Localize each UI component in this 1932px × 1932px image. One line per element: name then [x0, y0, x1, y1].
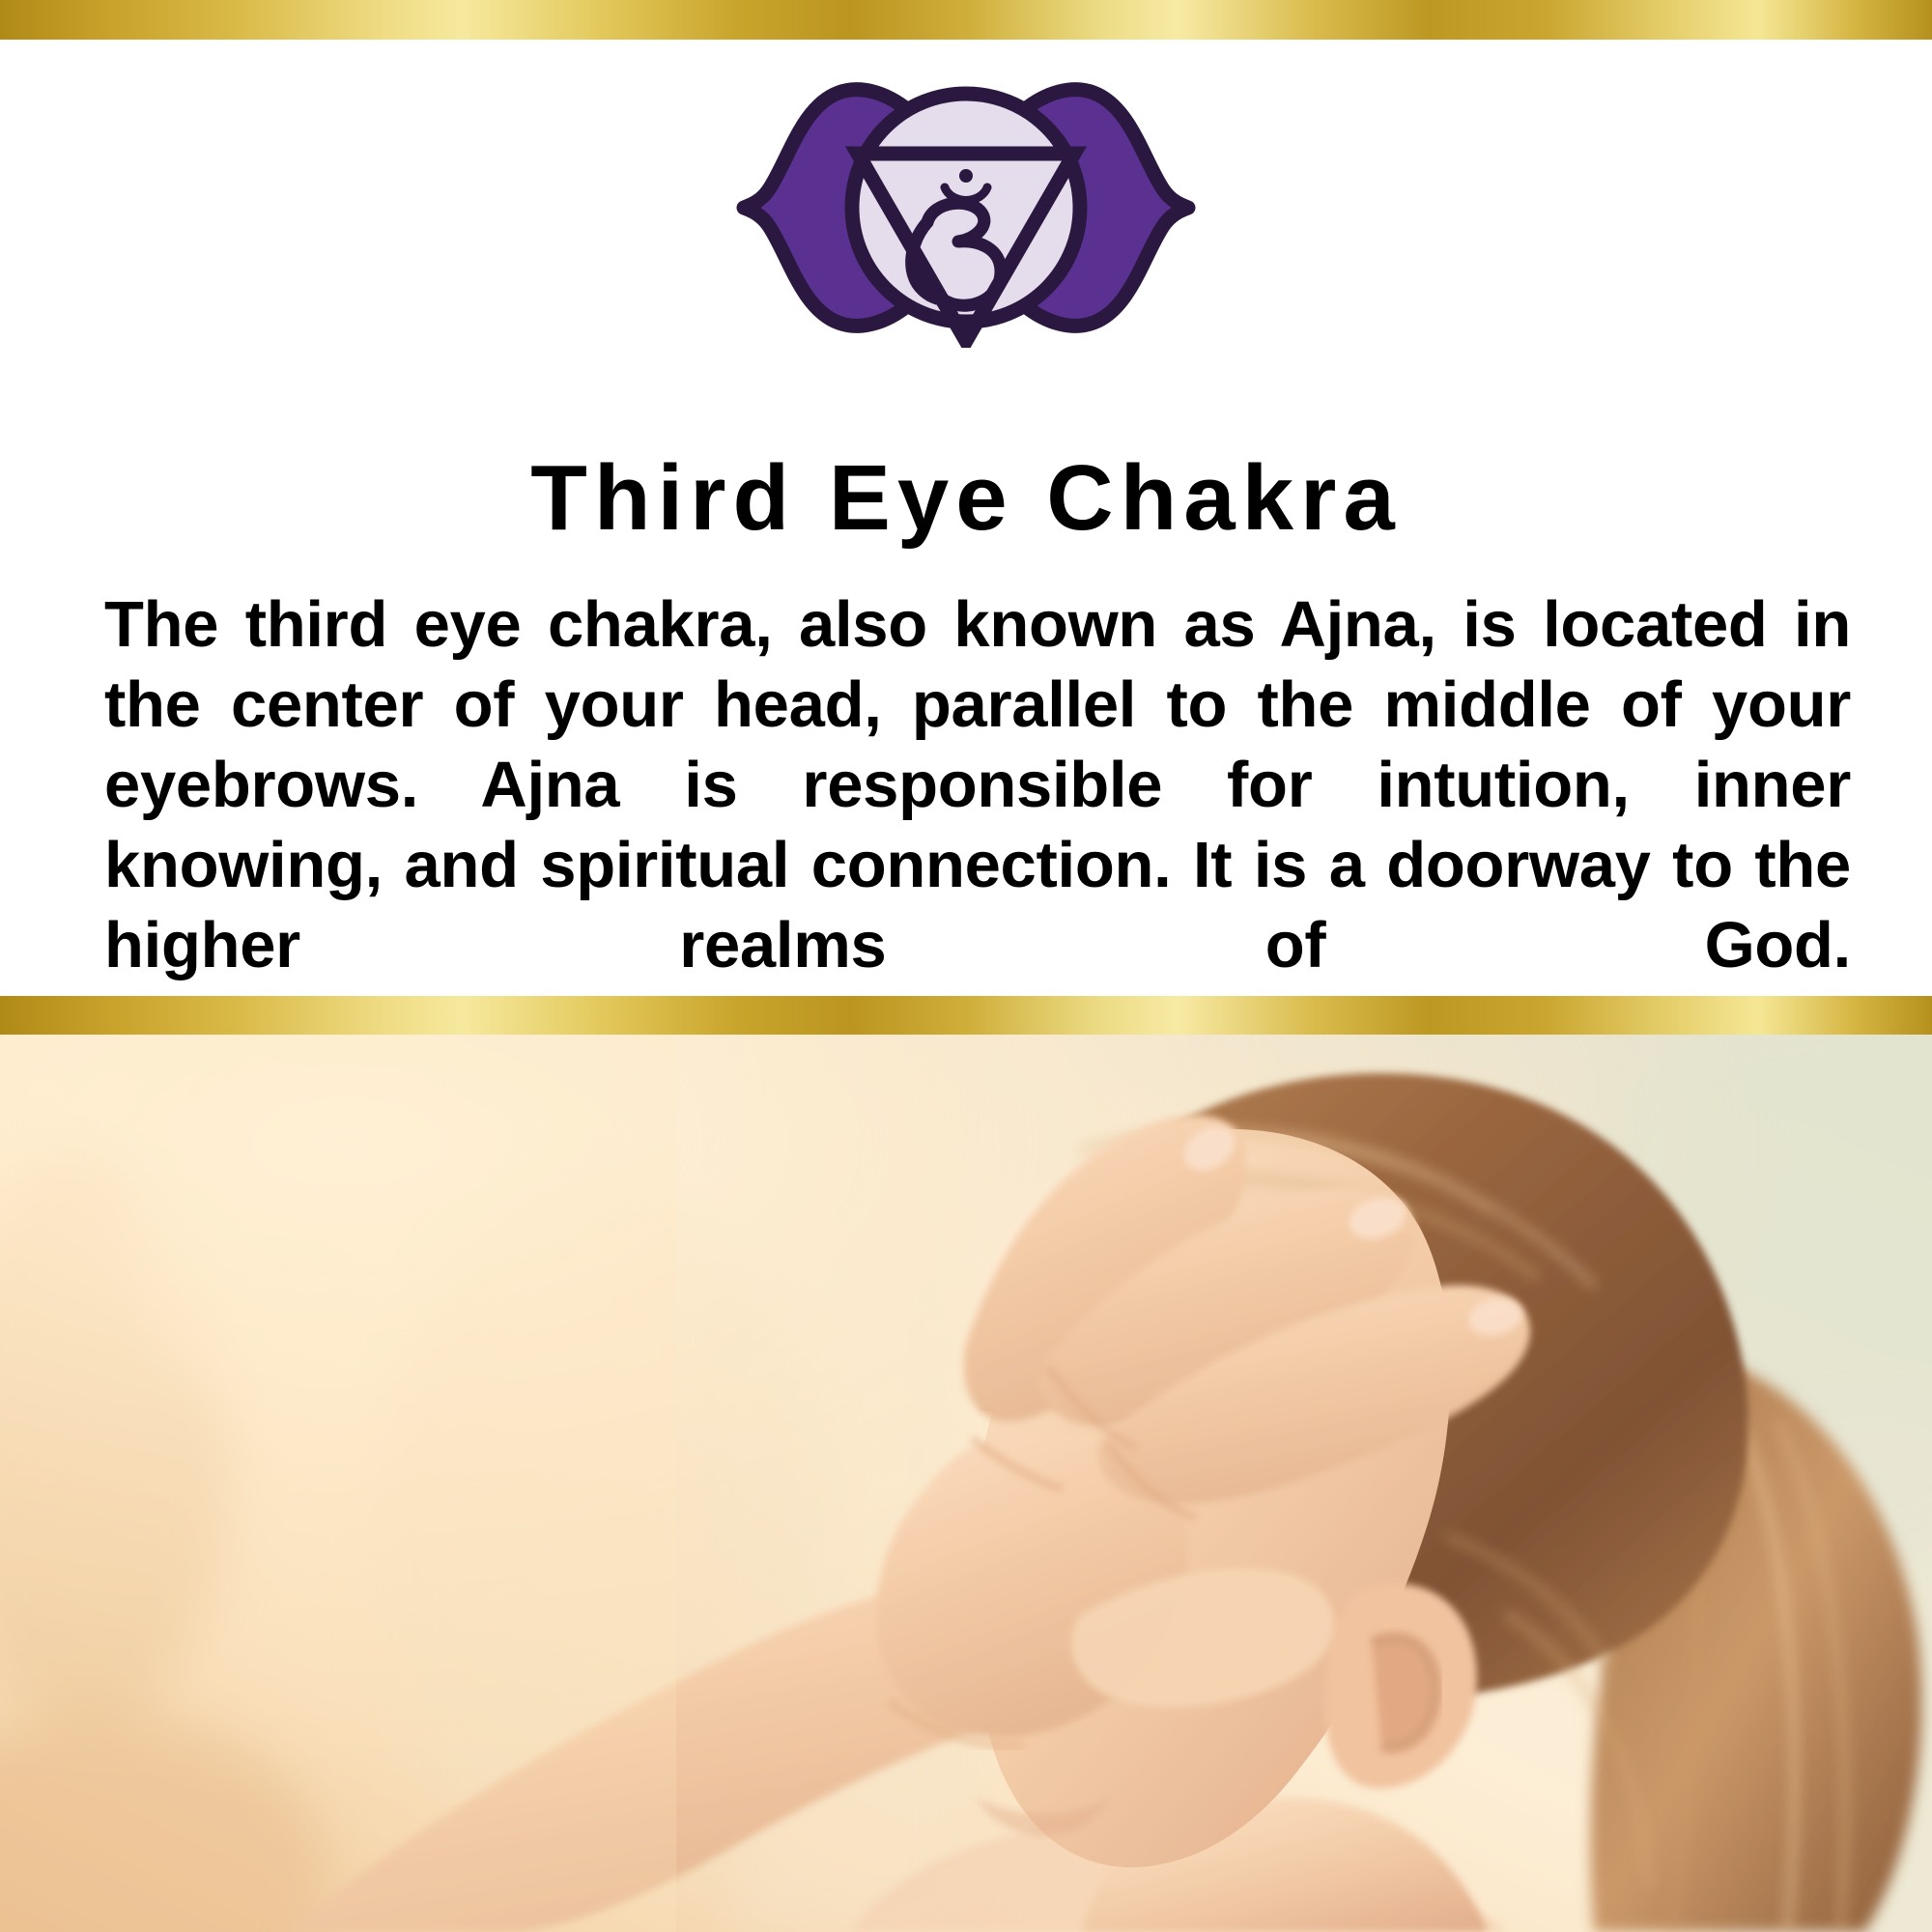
middle-gold-divider	[0, 996, 1932, 1035]
photo-left-haze	[0, 1035, 676, 1932]
chakra-infographic-poster: Third Eye Chakra The third eye chakra, a…	[0, 0, 1932, 1932]
photo-container	[0, 1035, 1932, 1932]
chakra-symbol-container	[0, 68, 1932, 348]
third-eye-chakra-icon	[734, 68, 1198, 348]
top-gold-divider	[0, 0, 1932, 40]
woman-touching-forehead-photo	[0, 1035, 1932, 1932]
description-paragraph: The third eye chakra, also known as Ajna…	[104, 584, 1851, 1065]
page-title: Third Eye Chakra	[0, 448, 1932, 549]
